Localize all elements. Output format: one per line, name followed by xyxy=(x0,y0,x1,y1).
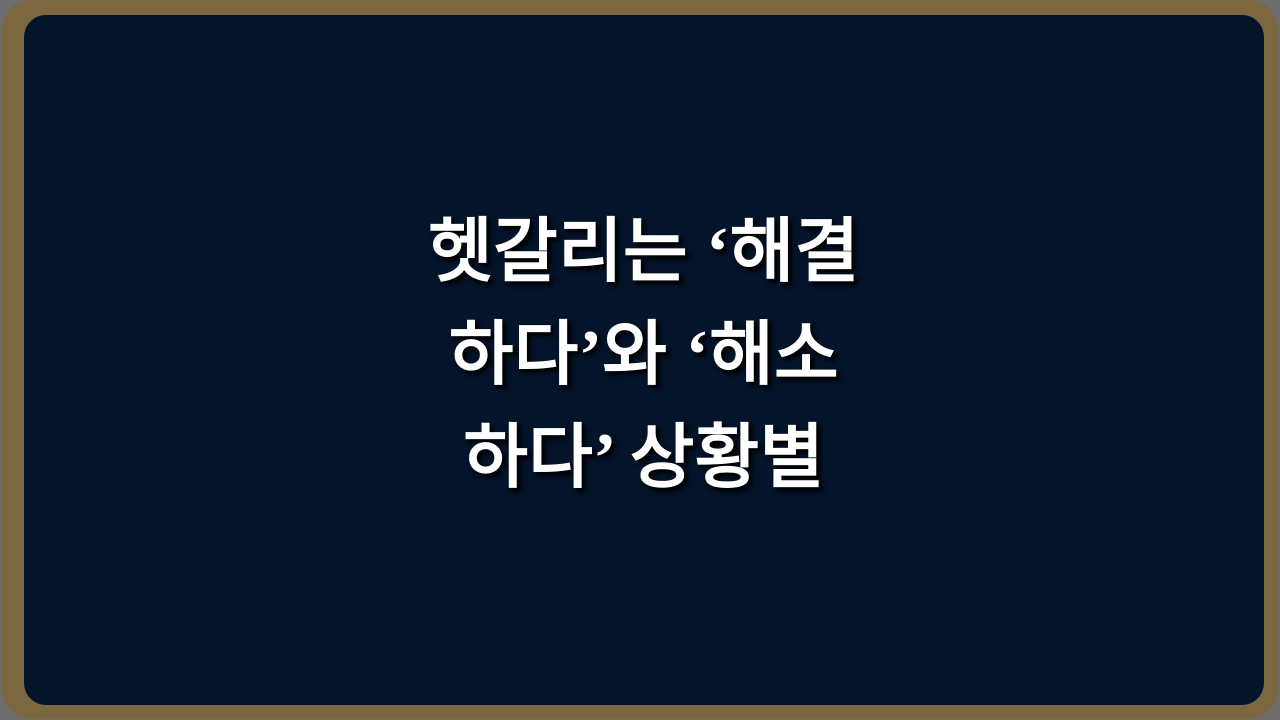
title-line-2: 하다’와 ‘해소 xyxy=(24,304,1264,407)
slide-canvas: 헷갈리는 ‘해결 하다’와 ‘해소 하다’ 상황별 xyxy=(24,15,1264,705)
title-line-3: 하다’ 상황별 xyxy=(24,407,1264,510)
slide-frame-border: 헷갈리는 ‘해결 하다’와 ‘해소 하다’ 상황별 xyxy=(2,0,1278,719)
slide-stage: 헷갈리는 ‘해결 하다’와 ‘해소 하다’ 상황별 xyxy=(0,0,1280,720)
title-line-1: 헷갈리는 ‘해결 xyxy=(24,201,1264,304)
slide-title-block: 헷갈리는 ‘해결 하다’와 ‘해소 하다’ 상황별 xyxy=(24,201,1264,510)
